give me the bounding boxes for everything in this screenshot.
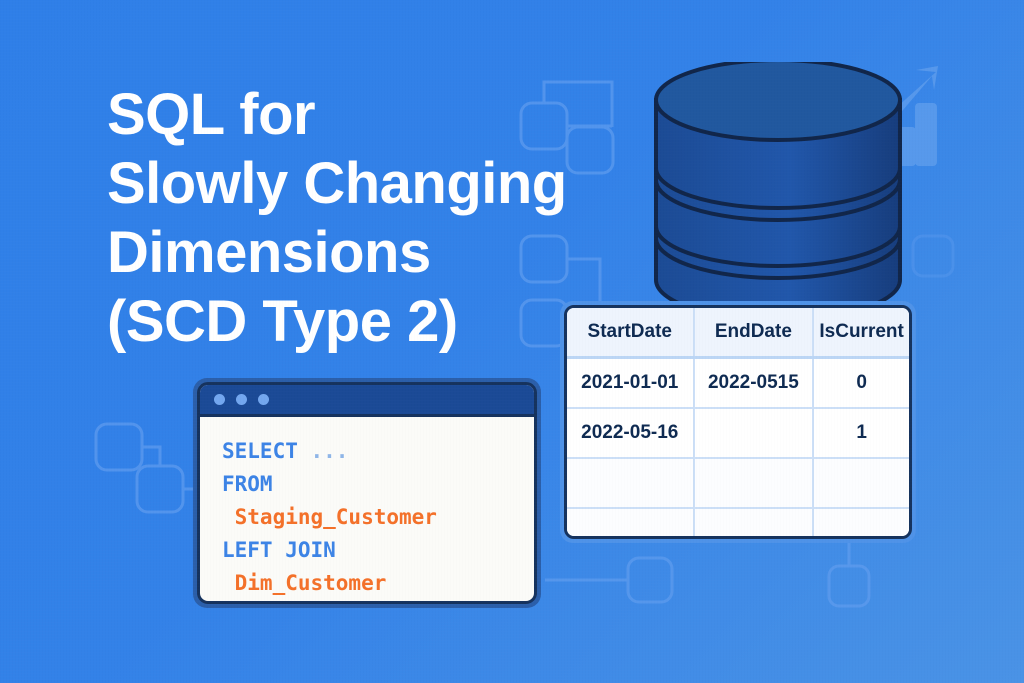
scd-table-card: StartDate EndDate IsCurrent 2021-01-01 2… bbox=[560, 301, 916, 543]
scd-table: StartDate EndDate IsCurrent 2021-01-01 2… bbox=[567, 308, 909, 539]
cell-iscurrent bbox=[813, 508, 909, 539]
sql-code-body: SELECT ... FROM Staging_Customer LEFT JO… bbox=[200, 417, 534, 601]
sql-code-window: SELECT ... FROM Staging_Customer LEFT JO… bbox=[193, 378, 541, 608]
table-row bbox=[567, 458, 909, 508]
table-row: 2021-01-01 2022-0515 0 bbox=[567, 358, 909, 409]
code-line: LEFT JOIN bbox=[222, 534, 534, 567]
table-row bbox=[567, 508, 909, 539]
code-line: Staging_Customer bbox=[222, 501, 534, 534]
column-header-enddate: EndDate bbox=[694, 308, 814, 358]
cell-enddate: 2022-0515 bbox=[694, 358, 814, 409]
database-cylinder-icon bbox=[638, 62, 918, 312]
column-header-iscurrent: IsCurrent bbox=[813, 308, 909, 358]
column-header-startdate: StartDate bbox=[567, 308, 694, 358]
sql-keyword: FROM bbox=[222, 472, 273, 496]
code-line: SELECT ... bbox=[222, 435, 534, 468]
sql-code-window-frame: SELECT ... FROM Staging_Customer LEFT JO… bbox=[197, 382, 537, 604]
cell-iscurrent: 0 bbox=[813, 358, 909, 409]
sql-keyword: LEFT JOIN bbox=[222, 538, 336, 562]
cell-enddate bbox=[694, 508, 814, 539]
table-header-row: StartDate EndDate IsCurrent bbox=[567, 308, 909, 358]
sql-keyword: SELECT bbox=[222, 439, 298, 463]
title-line-2: Slowly Changing bbox=[107, 149, 667, 218]
title-line-1: SQL for bbox=[107, 80, 667, 149]
cell-startdate: 2021-01-01 bbox=[567, 358, 694, 409]
scd-table-frame: StartDate EndDate IsCurrent 2021-01-01 2… bbox=[564, 305, 912, 539]
code-line: FROM bbox=[222, 468, 534, 501]
cell-startdate bbox=[567, 508, 694, 539]
table-row: 2022-05-16 1 bbox=[567, 408, 909, 458]
window-minimize-icon[interactable] bbox=[236, 394, 247, 405]
window-maximize-icon[interactable] bbox=[258, 394, 269, 405]
cell-iscurrent bbox=[813, 458, 909, 508]
code-line: Dim_Customer bbox=[222, 567, 534, 600]
sql-ellipsis: ... bbox=[298, 439, 349, 463]
cell-iscurrent: 1 bbox=[813, 408, 909, 458]
window-titlebar bbox=[200, 385, 534, 417]
sql-table-name: Dim_Customer bbox=[222, 571, 386, 595]
cell-enddate bbox=[694, 408, 814, 458]
cell-startdate bbox=[567, 458, 694, 508]
window-close-icon[interactable] bbox=[214, 394, 225, 405]
cell-enddate bbox=[694, 458, 814, 508]
sql-table-name: Staging_Customer bbox=[222, 505, 437, 529]
title-line-3: Dimensions bbox=[107, 218, 667, 287]
banner-canvas: SQL for Slowly Changing Dimensions (SCD … bbox=[0, 0, 1024, 683]
cell-startdate: 2022-05-16 bbox=[567, 408, 694, 458]
